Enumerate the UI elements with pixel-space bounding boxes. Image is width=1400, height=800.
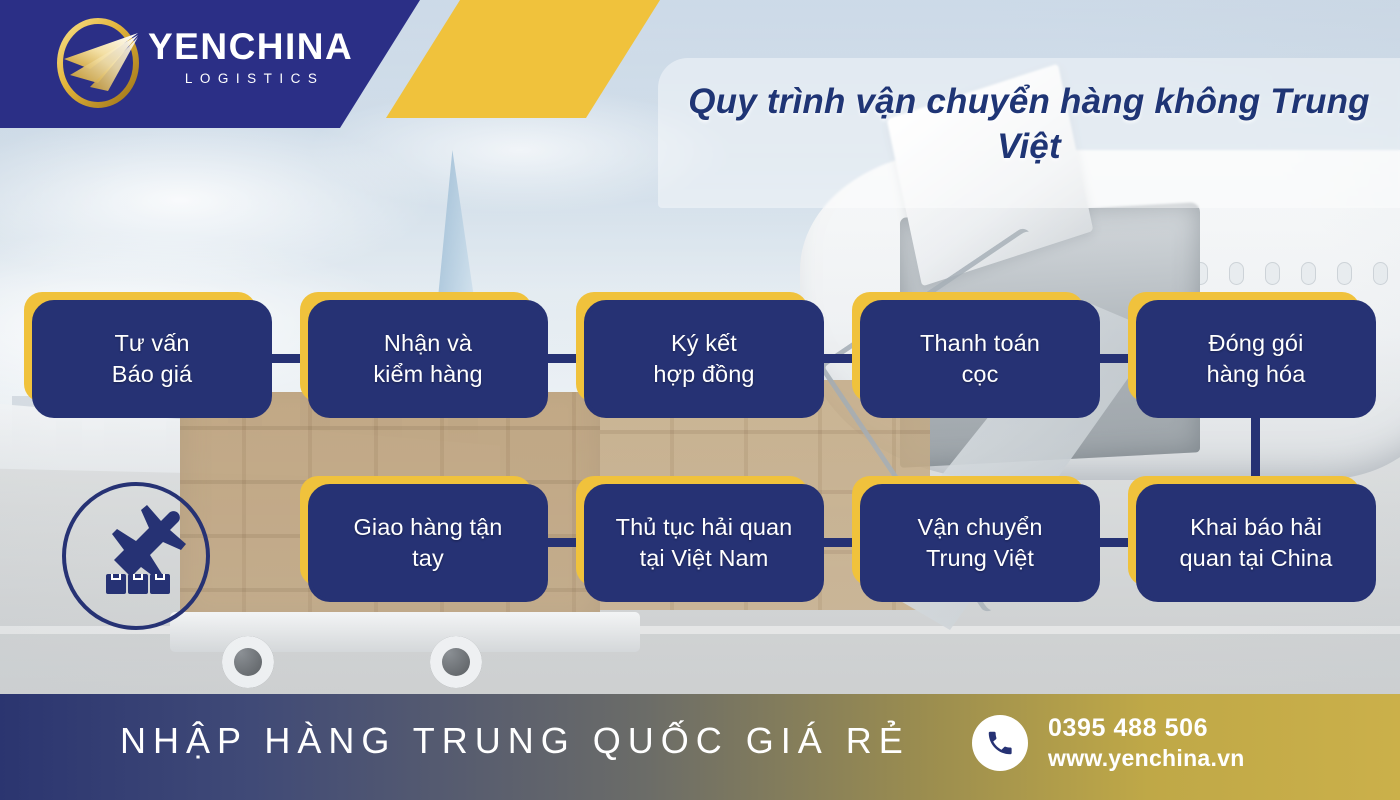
flow-node-label: Nhận vàkiểm hàng	[363, 328, 492, 390]
flow-node-nhan-va-kiem-hang[interactable]: Nhận vàkiểm hàng	[308, 300, 548, 418]
flow-node-thanh-toan-coc[interactable]: Thanh toáncọc	[860, 300, 1100, 418]
footer-contact-block: 0395 488 506 www.yenchina.vn	[972, 714, 1245, 772]
contact-website[interactable]: www.yenchina.vn	[1048, 745, 1245, 772]
flow-node-van-chuyen-trung-viet[interactable]: Vận chuyểnTrung Việt	[860, 484, 1100, 602]
flow-node-dong-goi-hang-hoa[interactable]: Đóng góihàng hóa	[1136, 300, 1376, 418]
process-flow: Tư vấnBáo giá Nhận vàkiểm hàng Ký kếthợp…	[0, 0, 1400, 800]
flow-node-tu-van-bao-gia[interactable]: Tư vấnBáo giá	[32, 300, 272, 418]
flow-node-label: Tư vấnBáo giá	[102, 328, 202, 390]
infographic-canvas: YENCHINA LOGISTICS Quy trình vận chuyển …	[0, 0, 1400, 800]
footer-bar: NHẬP HÀNG TRUNG QUỐC GIÁ RẺ 0395 488 506…	[0, 694, 1400, 800]
flow-node-thu-tuc-hai-quan-viet-nam[interactable]: Thủ tục hải quantại Việt Nam	[584, 484, 824, 602]
airplane-with-cargo-boxes-icon	[62, 482, 210, 630]
flow-node-label: Vận chuyểnTrung Việt	[907, 512, 1052, 574]
phone-icon	[972, 715, 1028, 771]
contact-lines: 0395 488 506 www.yenchina.vn	[1048, 714, 1245, 772]
flow-node-label: Thủ tục hải quantại Việt Nam	[606, 512, 803, 574]
flow-node-label: Khai báo hảiquan tại China	[1170, 512, 1343, 574]
flow-node-ky-ket-hop-dong[interactable]: Ký kếthợp đồng	[584, 300, 824, 418]
flow-node-label: Giao hàng tậntay	[344, 512, 513, 574]
flow-node-khai-bao-hai-quan-china[interactable]: Khai báo hảiquan tại China	[1136, 484, 1376, 602]
footer-tagline: NHẬP HÀNG TRUNG QUỐC GIÁ RẺ	[120, 720, 910, 762]
flow-node-label: Thanh toáncọc	[910, 328, 1050, 390]
flow-node-label: Đóng góihàng hóa	[1197, 328, 1316, 390]
contact-phone[interactable]: 0395 488 506	[1048, 714, 1245, 743]
flow-node-label: Ký kếthợp đồng	[643, 328, 764, 390]
flow-node-giao-hang-tan-tay[interactable]: Giao hàng tậntay	[308, 484, 548, 602]
connector-row1-5-to-row2-4	[1251, 414, 1260, 488]
